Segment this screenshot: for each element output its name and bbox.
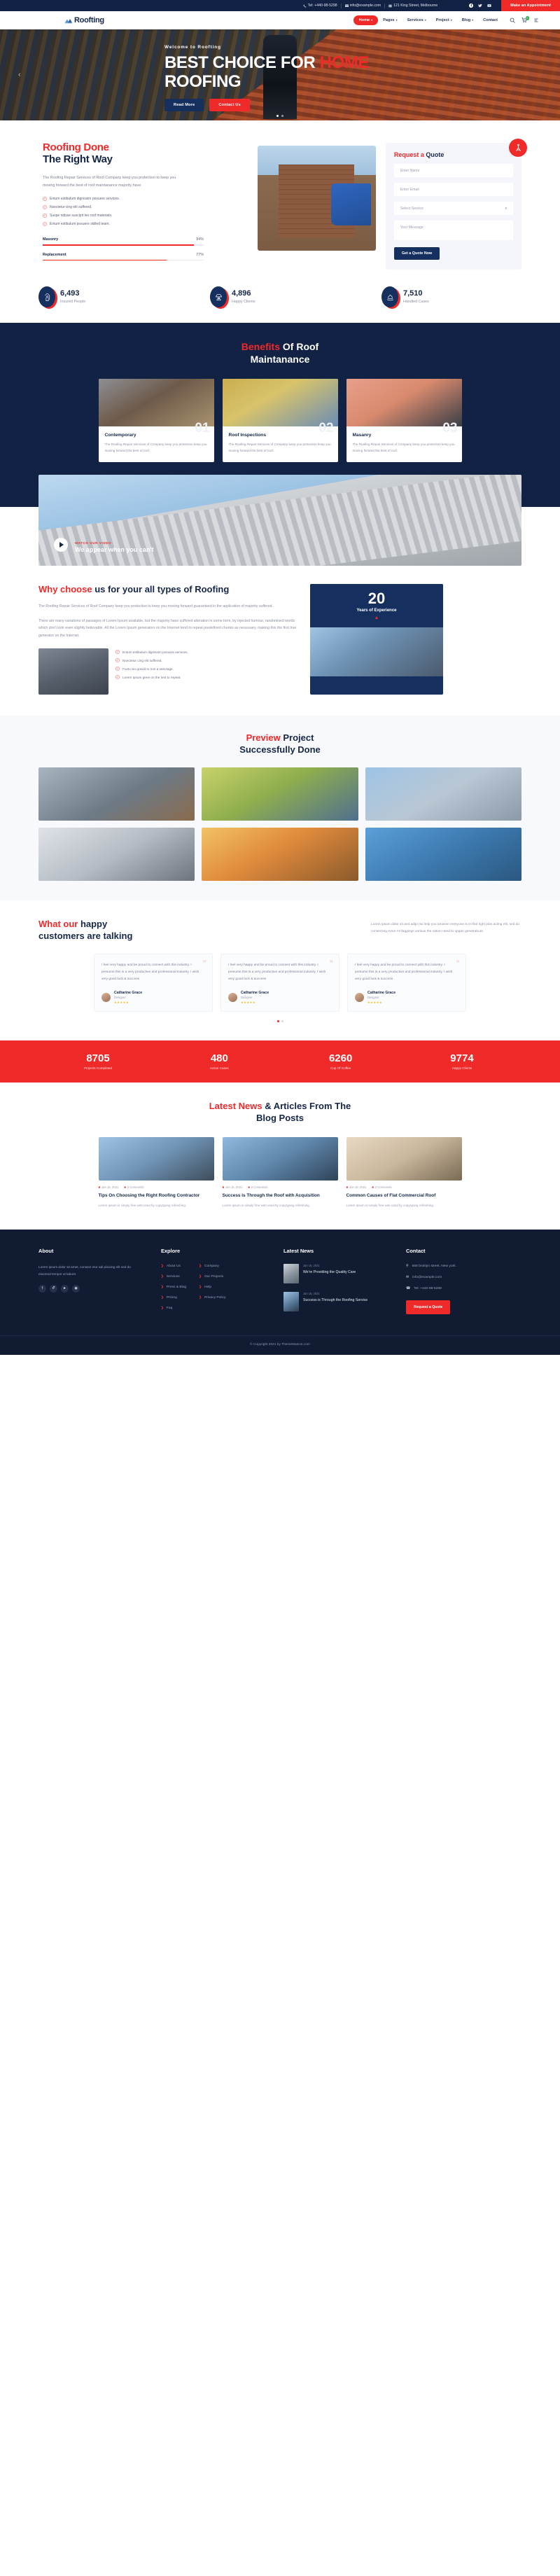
rating-stars: ★★★★★ [367,1001,395,1004]
about-heading-red: Roofing Done [43,141,248,153]
blog-date: ■Jan 16, 2021 [223,1185,243,1189]
helmet-icon [210,286,227,307]
nav-label: Services [407,18,423,22]
hero-title-highlight: HOME [320,53,369,72]
why-choose-section: Why choose us for your all types of Roof… [38,566,521,716]
slider-dot[interactable] [281,115,283,117]
check-circle-icon: ✓ [115,658,120,662]
avatar [101,993,111,1002]
search-icon[interactable] [510,18,515,23]
testimonial-text: I feel very happy and be proud to connec… [228,962,332,983]
skill-bars: Masonry94% Replacement77% [43,237,204,260]
topbar-address-text: 121 King Street, Melbourne [393,4,437,8]
blog-desc: Lorem Ipsum is simply free web used by c… [346,1202,462,1209]
map-marker-icon [388,4,392,8]
skill-fill [43,244,194,246]
footer-socials: f 𝒪 ► ◉ [38,1285,154,1293]
calendar-icon: ■ [346,1185,349,1189]
make-appointment-button[interactable]: Make an Appointment [501,0,560,11]
service-select-value: Select Service [400,207,423,211]
blog-heading-line2: Blog Posts [38,1113,521,1123]
chevron-right-icon: ❯ [161,1264,164,1268]
list-item[interactable]: ❯Services [161,1274,186,1279]
twitter-icon[interactable] [478,4,482,8]
worker-icon [38,286,55,307]
nav-label: Blog [462,18,470,22]
benefits-heading-line2: Maintanance [38,354,521,365]
nav-item-services[interactable]: Services▾ [402,18,431,22]
list-item: ✓Lorem Ipsum gene on the text to repeat. [115,675,188,679]
video-banner: WATCH OUR VIDEO We appear when you can't [38,475,521,566]
compass-icon [509,139,527,157]
counter-handled-cases: 7,510 Handled Cases [381,286,521,307]
benefit-title: Contemporary [105,433,208,438]
project-thumb[interactable] [202,767,358,821]
list-item[interactable]: ❯Help [199,1285,225,1289]
check-circle-icon: ✓ [43,222,47,226]
skill-value: 77% [196,253,204,257]
quote-title-red: Request a [394,151,424,158]
blog-date: ■Jan 16, 2021 [346,1185,367,1189]
blog-image [99,1137,214,1181]
chevron-right-icon: ❯ [199,1274,202,1279]
nav-label: Home [359,18,370,22]
skill-fill [43,260,167,261]
comment-icon: ■ [248,1185,250,1189]
benefit-desc: The Roofing Repair Services of Company k… [105,441,208,454]
testimonial-cards: ” I feel very happy and be proud to conn… [38,954,521,1011]
request-quote-form: Request a Quote Enter Name Enter Email S… [386,143,521,270]
list-item: ✓Nsectetur cing elit suffered. [43,205,248,209]
funfact-label: Projects Completed [38,1066,157,1070]
rating-stars: ★★★★★ [241,1001,269,1004]
avatar [355,993,364,1002]
testimonial-text: I feel very happy and be proud to connec… [101,962,205,983]
list-item: ✓Entum estibulum dignissim posuere servi… [115,650,188,654]
why-check-list: ✓Entum estibulum dignissim posuere servi… [115,648,188,695]
why-image [38,648,108,695]
nav-menu: Home▾ Pages▾ Services▾ Project▾ Blog▾ Co… [353,15,539,25]
blog-card[interactable]: ■Jan 16, 2021 ■2 Comments Success is Thr… [223,1137,338,1209]
footer-email[interactable]: ✉info@example.com [406,1275,521,1279]
benefits-heading-white: Of Roof [280,341,318,352]
funfact-number: 8705 [38,1053,157,1064]
site-footer: About Lorem ipsum dolor sit amet, consec… [0,1230,560,1355]
hero-title-part2: ROOFING [164,72,241,91]
quote-title-dark: Quote [424,151,444,158]
chevron-down-icon: ▾ [451,19,452,22]
project-thumb[interactable] [365,828,521,881]
funfact-label: Cup Of Coffee [281,1066,400,1070]
experience-label: Years of Experience [356,608,396,613]
skill-replacement: Replacement77% [43,253,204,261]
testimonial-name: Catharine Grace [367,991,395,995]
nav-item-project[interactable]: Project▾ [431,18,457,22]
benefit-image [346,379,462,426]
slider-prev-arrow[interactable]: ‹ [18,71,21,79]
footer-about-column: About Lorem ipsum dolor sit amet, consec… [38,1248,154,1320]
list-item: ✓Nsectetur cing elit suffered. [115,658,188,662]
list-item-label: Fusto sio gravid to non a sanctage. [122,667,174,671]
list-item[interactable]: ❯Pricing [161,1295,186,1300]
testimonials-section: What our happy customers are talking Lor… [0,900,560,1040]
nav-item-pages[interactable]: Pages▾ [378,18,402,22]
benefit-card[interactable]: 02 Roof Inspections The Roofing Repair S… [223,379,338,462]
message-field[interactable]: Your Message [394,221,513,240]
contact-us-button[interactable]: Contact Us [209,99,250,111]
footer-explore-list-1: ❯About Us ❯Services ❯Press & Blog ❯Prici… [161,1264,186,1310]
blog-card[interactable]: ■Jan 16, 2021 ■2 Comments Common Causes … [346,1137,462,1209]
video-section: WATCH OUR VIDEO We appear when you can't [0,475,560,566]
skill-value: 94% [196,237,204,242]
experience-card: 20 Years of Experience ▲ [310,584,443,695]
list-item-label: Entum estibulum posuere skilled team. [50,222,110,226]
slider-dots [276,115,283,117]
footer-about-text: Lorem ipsum dolor sit amet, consect etur… [38,1264,140,1278]
page-root: Tel: +440-98-5298 info@example.com 121 K… [0,0,560,1355]
preview-heading-line2: Successfully Done [38,744,521,755]
testimonial-dot[interactable] [281,1020,283,1022]
check-circle-icon: ✓ [43,214,47,218]
skill-label: Replacement [43,253,66,257]
footer-address: ⚲666 broklyn street, New york. [406,1264,521,1268]
news-date: Jan 16, 2021 [303,1264,356,1267]
footer-explore-column: Explore ❯About Us ❯Services ❯Press & Blo… [161,1248,276,1320]
footer-news-item[interactable]: Jan 16, 2021 We're Providing the Quality… [283,1264,399,1283]
funfact-item: 480 Active Cases [160,1053,279,1070]
house-hand-icon [381,286,398,307]
project-grid [38,767,521,881]
funfact-number: 6260 [281,1053,400,1064]
benefit-card[interactable]: 03 Masanry The Roofing Repair Services o… [346,379,462,462]
testimonial-dots [38,1020,521,1022]
news-title: We're Providing the Quality Care [303,1269,356,1276]
funfact-item: 6260 Cup Of Coffee [281,1053,400,1070]
why-paragraph-2: There are many variations of passages of… [38,618,297,641]
testimonial-card: ” I feel very happy and be proud to conn… [220,954,339,1011]
home-icon: ▲ [374,615,379,620]
counter-happy-clients: 4,896 Happy Clients [210,286,350,307]
top-bar: Tel: +440-98-5298 info@example.com 121 K… [0,0,560,11]
chevron-right-icon: ❯ [199,1295,202,1300]
funfact-number: 9774 [402,1053,521,1064]
list-item: ✓Entum estibulum posuere skilled team. [43,222,248,226]
testimonial-role: Designer [114,996,142,999]
about-section: Roofing Done The Right Way The Roofing R… [0,120,560,274]
chevron-right-icon: ❯ [199,1285,202,1289]
counter-section: 6,493 Insured People 4,896 Happy Clients… [38,274,521,323]
footer-explore-title: Explore [161,1248,276,1254]
get-quote-button[interactable]: Get a Quote Now [394,247,440,260]
avatar [228,993,237,1002]
site-logo[interactable]: Roofting [64,16,104,25]
topbar-socials [469,4,491,8]
about-check-list: ✓Entum estibulum dignissim posuere servi… [43,197,248,226]
footer-news-title: Latest News [283,1248,399,1254]
blog-heading-red: Latest News [209,1101,262,1111]
blog-image [223,1137,338,1181]
counter-label: Handled Cases [403,300,429,304]
facebook-icon[interactable] [469,4,473,8]
play-icon [59,542,64,548]
instagram-icon[interactable]: ◉ [72,1285,80,1293]
testi-heading-red: What our [38,919,78,929]
blog-title: Success is Through the Roof with Acquisi… [223,1192,338,1199]
benefit-image [223,379,338,426]
blog-comments: ■2 Comments [124,1185,143,1189]
counter-number: 7,510 [403,290,429,298]
chevron-right-icon: ❯ [161,1306,164,1310]
benefit-title: Roof Inspections [229,433,332,438]
blog-heading-dark: & Articles From The [262,1101,351,1111]
hero-title: BEST CHOICE FOR HOME ROOFING [164,54,521,92]
testimonials-heading: What our happy customers are talking [38,919,132,941]
blog-section: Latest News & Articles From The Blog Pos… [0,1082,560,1230]
nav-icon-group: 0 [510,18,539,23]
nav-item-home[interactable]: Home▾ [353,15,379,25]
testimonial-name: Catharine Grace [241,991,269,995]
about-image [258,146,376,251]
blog-comments: ■2 Comments [372,1185,391,1189]
slider-dot[interactable] [276,115,279,117]
news-thumb [283,1292,299,1311]
cart-count-badge: 0 [526,16,530,20]
blog-desc: Lorem Ipsum is simply free web used by c… [99,1202,214,1209]
hero-welcome-text: Welcome to Roofting [164,45,521,50]
blog-cards: ■Jan 16, 2021 ■2 Comments Tips On Choosi… [38,1137,521,1209]
list-item[interactable]: ❯Faq [161,1306,186,1310]
list-item-label: Nsectetur cing elit suffered. [50,205,92,209]
footer-phone[interactable]: ☎Tel: +440-98-5298 [406,1286,521,1290]
hero-title-part1: BEST CHOICE FOR [164,53,320,72]
experience-number: 20 [368,591,385,606]
nav-label: Project [436,18,449,22]
testimonial-card: ” I feel very happy and be proud to conn… [94,954,213,1011]
service-select[interactable]: Select Service ▾ [394,202,513,215]
calendar-icon: ■ [223,1185,225,1189]
hero-slider: Welcome to Roofting BEST CHOICE FOR HOME… [0,29,560,120]
check-circle-icon: ✓ [43,205,47,209]
blog-comments: ■2 Comments [248,1185,267,1189]
logo-text: Roofting [74,16,104,25]
main-navbar: Roofting Home▾ Pages▾ Services▾ Project▾… [0,11,560,29]
top-bar-info: Tel: +440-98-5298 info@example.com 121 K… [300,4,442,8]
footer-news-column: Latest News Jan 16, 2021 We're Providing… [283,1248,399,1320]
footer-copyright: © Copyright 2021 by ThemeMascot.com [0,1335,560,1355]
chevron-down-icon: ▾ [396,19,398,22]
list-item: ✓Fusto sio gravid to non a sanctage. [115,667,188,671]
nav-item-contact[interactable]: Contact [478,18,503,22]
list-item-label: Nsectetur cing elit suffered. [122,659,162,662]
topbar-email-text: info@example.com [350,4,381,8]
envelope-icon: ✉ [406,1275,409,1279]
counter-label: Happy Clients [232,300,255,304]
testimonial-dot[interactable] [277,1020,279,1022]
map-marker-icon: ⚲ [406,1264,409,1268]
list-item: ✓Suspe ndisse suscipit leo roof material… [43,214,248,218]
blog-heading: Latest News & Articles From The Blog Pos… [38,1101,521,1123]
list-item[interactable]: ❯Our Projects [199,1274,225,1279]
preview-heading-red: Preview [246,732,281,743]
topbar-phone-text: Tel: +440-98-5298 [308,4,337,8]
skill-masonry: Masonry94% [43,237,204,246]
preview-heading: Preview Project Successfully Done [38,732,521,755]
nav-label: Contact [483,18,498,22]
read-more-button[interactable]: Read More [164,99,204,111]
chevron-right-icon: ❯ [161,1295,164,1300]
nav-label: Pages [383,18,394,22]
footer-contact-column: Contact ⚲666 broklyn street, New york. ✉… [406,1248,521,1320]
blog-title: Common Causes of Flat Commercial Roof [346,1192,462,1199]
quote-mark-icon: ” [203,960,207,968]
why-heading-red: Why choose [38,584,92,594]
why-heading-dark: us for your all types of Roofing [92,584,230,594]
experience-image [310,627,443,676]
chevron-down-icon: ▾ [371,19,372,22]
comment-icon: ■ [372,1185,374,1189]
facebook-icon[interactable]: f [38,1285,46,1293]
youtube-icon[interactable]: ► [61,1285,69,1293]
quote-mark-icon: ” [330,960,334,968]
benefit-card[interactable]: 01 Contemporary The Roofing Repair Servi… [99,379,214,462]
funfact-item: 9774 Happy Clients [402,1053,521,1070]
chevron-down-icon: ▾ [472,19,473,22]
list-item[interactable]: ❯Press & Blog [161,1285,186,1289]
phone-icon: ☎ [406,1286,410,1290]
check-circle-icon: ✓ [115,650,120,654]
project-thumb[interactable] [38,828,195,881]
counter-insured-people: 6,493 Insured People [38,286,178,307]
news-title: Success is Through the Roofing Service [303,1297,367,1304]
preview-project-section: Preview Project Successfully Done [0,716,560,900]
check-circle-icon: ✓ [115,675,120,679]
play-button[interactable] [54,538,68,552]
email-field[interactable]: Enter Email [394,183,513,196]
benefit-cards: 01 Contemporary The Roofing Repair Servi… [38,379,521,462]
list-item[interactable]: ❯Company [199,1264,225,1268]
request-quote-button[interactable]: Request a Quote [406,1300,450,1314]
chevron-right-icon: ❯ [161,1274,164,1279]
menu-toggle-icon[interactable] [533,18,539,23]
list-item-label: Lorem Ipsum gene on the text to repeat. [122,676,181,679]
quote-form-title: Request a Quote [394,151,513,158]
youtube-icon[interactable] [487,4,491,8]
chevron-down-icon: ▾ [505,207,507,211]
phone-icon [303,4,307,8]
topbar-email[interactable]: info@example.com [342,4,384,8]
testimonial-role: Designer [367,996,395,999]
preview-heading-dark: Project [281,732,314,743]
chevron-right-icon: ❯ [161,1285,164,1289]
topbar-address[interactable]: 121 King Street, Melbourne [385,4,441,8]
benefit-desc: The Roofing Repair Services of Company k… [229,441,332,454]
list-item: ✓Entum estibulum dignissim posuere servi… [43,197,248,201]
news-thumb [283,1264,299,1283]
testimonial-role: Designer [241,996,269,999]
benefit-title: Masanry [353,433,456,438]
chevron-right-icon: ❯ [199,1264,202,1268]
envelope-icon [345,4,349,8]
skill-label: Masonry [43,237,58,242]
nav-item-blog[interactable]: Blog▾ [457,18,478,22]
blog-card[interactable]: ■Jan 16, 2021 ■2 Comments Tips On Choosi… [99,1137,214,1209]
rating-stars: ★★★★★ [114,1001,142,1004]
funfact-number: 480 [160,1053,279,1064]
about-paragraph: The Roofing Repair Services of Roof Comp… [43,174,183,190]
list-item-label: Entum estibulum dignissim posuere servic… [50,197,120,201]
quote-mark-icon: ” [456,960,461,968]
blog-date: ■Jan 16, 2021 [99,1185,119,1189]
testi-heading-line2: customers are talking [38,931,132,941]
twitter-icon[interactable]: 𝒪 [50,1285,57,1293]
about-heading-dark: The Right Way [43,153,248,165]
check-circle-icon: ✓ [43,197,47,201]
project-thumb[interactable] [38,767,195,821]
check-circle-icon: ✓ [115,667,120,671]
funfact-label: Active Cases [160,1066,279,1070]
benefit-image [99,379,214,426]
news-date: Jan 16, 2021 [303,1292,367,1295]
testimonials-intro: Lorem ipsum dolor sit amt adipi risi hel… [371,921,521,935]
testi-heading-dark: happy [78,919,107,929]
testimonial-card: ” I feel very happy and be proud to conn… [347,954,466,1011]
testimonial-name: Catharine Grace [114,991,142,995]
funfact-item: 8705 Projects Completed [38,1053,157,1070]
counter-number: 6,493 [60,290,85,298]
comment-icon: ■ [124,1185,126,1189]
counter-number: 4,896 [232,290,255,298]
funfact-section: 8705 Projects Completed 480 Active Cases… [0,1040,560,1082]
list-item-label: Suspe ndisse suscipit leo roof materials… [50,214,112,218]
chevron-down-icon: ▾ [425,19,426,22]
video-subtitle: WATCH OUR VIDEO [75,541,154,545]
footer-news-item[interactable]: Jan 16, 2021 Success is Through the Roof… [283,1292,399,1311]
blog-title: Tips On Choosing the Right Roofing Contr… [99,1192,214,1199]
project-thumb[interactable] [365,767,521,821]
why-paragraph-1: The Roofing Repair Services of Roof Comp… [38,603,297,611]
about-text-block: Roofing Done The Right Way The Roofing R… [38,141,248,270]
mountain-logo-icon [64,18,73,24]
cart-icon[interactable]: 0 [521,18,527,23]
hero-buttons: Read More Contact Us [164,99,521,111]
benefit-desc: The Roofing Repair Services of Company k… [353,441,456,454]
counter-label: Insured People [60,300,85,304]
project-thumb[interactable] [202,828,358,881]
calendar-icon: ■ [99,1185,101,1189]
blog-desc: Lorem Ipsum is simply free web used by c… [223,1202,338,1209]
testimonial-text: I feel very happy and be proud to connec… [355,962,458,983]
blog-image [346,1137,462,1181]
name-field[interactable]: Enter Name [394,164,513,177]
list-item[interactable]: ❯Privacy Policy [199,1295,225,1300]
funfact-label: Happy Clients [402,1066,521,1070]
video-title: We appear when you can't [75,546,154,553]
footer-explore-list-2: ❯Company ❯Our Projects ❯Help ❯Privacy Po… [199,1264,225,1310]
footer-contact-title: Contact [406,1248,521,1254]
benefits-heading: Benefits Of Roof Maintanance [38,341,521,365]
list-item[interactable]: ❯About Us [161,1264,186,1268]
list-item-label: Entum estibulum dignissim posuere servic… [122,650,188,654]
topbar-phone[interactable]: Tel: +440-98-5298 [300,4,341,8]
benefits-heading-red: Benefits [241,341,280,352]
footer-about-title: About [38,1248,154,1254]
